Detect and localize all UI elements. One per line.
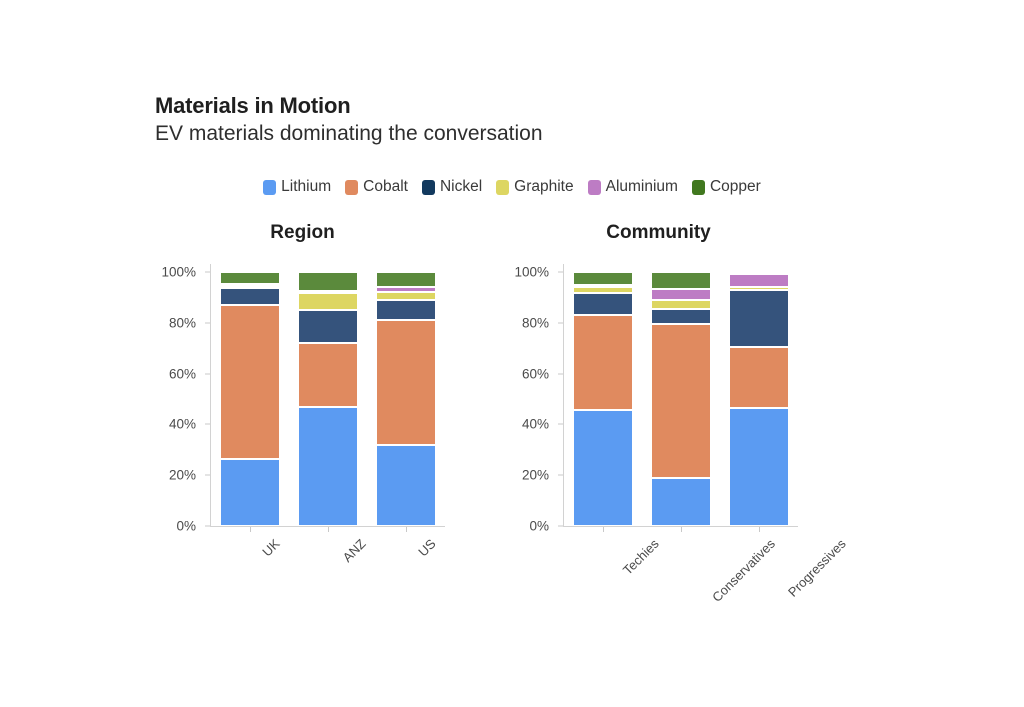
y-axis-community: 0%20%40%60%80%100%	[508, 272, 558, 526]
x-axis-tick-mark	[250, 527, 251, 532]
legend-label: Graphite	[514, 178, 573, 196]
bar-us[interactable]	[377, 272, 435, 526]
bar-uk[interactable]	[221, 272, 279, 526]
legend-item-graphite[interactable]: Graphite	[496, 178, 573, 196]
legend-label: Aluminium	[606, 178, 678, 196]
y-axis-tick-label: 20%	[169, 468, 196, 483]
y-axis-tick-label: 40%	[522, 417, 549, 432]
y-axis-tick-label: 60%	[169, 366, 196, 381]
bar-segment-nickel[interactable]	[730, 290, 788, 347]
bar-segment-cobalt[interactable]	[574, 315, 632, 410]
x-axis-tick-mark	[328, 527, 329, 532]
plot-area-community	[564, 272, 798, 526]
x-axis-tick-label: UK	[259, 536, 282, 559]
bar-segment-aluminium[interactable]	[730, 274, 788, 287]
x-axis-tick-mark	[681, 527, 682, 532]
bar-segment-lithium[interactable]	[377, 445, 435, 526]
y-axis-tick-label: 40%	[169, 417, 196, 432]
plot-area-region	[211, 272, 445, 526]
legend-label: Nickel	[440, 178, 482, 196]
legend-swatch-icon	[496, 180, 509, 195]
bar-segment-graphite[interactable]	[574, 287, 632, 294]
y-axis-region: 0%20%40%60%80%100%	[155, 272, 205, 526]
bar-segment-nickel[interactable]	[299, 310, 357, 343]
bar-progressives[interactable]	[730, 272, 788, 526]
chart-legend: LithiumCobaltNickelGraphiteAluminiumCopp…	[0, 178, 1024, 196]
y-axis-tick-label: 80%	[522, 315, 549, 330]
legend-swatch-icon	[588, 180, 601, 195]
legend-label: Copper	[710, 178, 761, 196]
legend-swatch-icon	[422, 180, 435, 195]
x-axis-tick-label: ANZ	[340, 536, 369, 565]
legend-item-copper[interactable]: Copper	[692, 178, 761, 196]
y-axis-tick-label: 0%	[529, 519, 549, 534]
legend-item-lithium[interactable]: Lithium	[263, 178, 331, 196]
bar-segment-copper[interactable]	[574, 272, 632, 285]
legend-item-aluminium[interactable]: Aluminium	[588, 178, 678, 196]
title-block: Materials in Motion EV materials dominat…	[155, 92, 543, 148]
x-axis-tick-label: Progressives	[785, 536, 849, 600]
y-axis-tick-label: 20%	[522, 468, 549, 483]
legend-label: Lithium	[281, 178, 331, 196]
legend-swatch-icon	[345, 180, 358, 195]
bar-techies[interactable]	[574, 272, 632, 526]
bar-segment-graphite[interactable]	[652, 300, 710, 309]
bar-segment-cobalt[interactable]	[299, 343, 357, 407]
bar-segment-nickel[interactable]	[377, 300, 435, 320]
x-axis-tick-label: US	[415, 536, 438, 559]
bar-segment-copper[interactable]	[299, 272, 357, 291]
bar-segment-lithium[interactable]	[221, 459, 279, 526]
page-subtitle: EV materials dominating the conversation	[155, 120, 543, 148]
y-axis-tick-label: 100%	[514, 265, 549, 280]
legend-swatch-icon	[263, 180, 276, 195]
bar-segment-lithium[interactable]	[730, 408, 788, 526]
bar-segment-cobalt[interactable]	[221, 305, 279, 459]
bar-conservatives[interactable]	[652, 272, 710, 526]
x-axis-tick-mark	[603, 527, 604, 532]
bar-segment-cobalt[interactable]	[652, 324, 710, 478]
x-axis-tick-mark	[759, 527, 760, 532]
bar-segment-cobalt[interactable]	[377, 320, 435, 444]
x-axis-tick-label: Conservatives	[709, 536, 778, 605]
panel-title-community: Community	[486, 222, 831, 244]
bar-segment-nickel[interactable]	[652, 309, 710, 324]
panel-title-region: Region	[130, 222, 475, 244]
chart-figure: Materials in Motion EV materials dominat…	[0, 0, 1024, 707]
bar-segment-cobalt[interactable]	[730, 347, 788, 408]
bar-segment-graphite[interactable]	[377, 292, 435, 300]
bar-segment-lithium[interactable]	[299, 407, 357, 526]
y-axis-tick-label: 60%	[522, 366, 549, 381]
x-axis-tick-label: Techies	[620, 536, 662, 578]
bar-segment-copper[interactable]	[221, 272, 279, 284]
bar-anz[interactable]	[299, 272, 357, 526]
bar-segment-lithium[interactable]	[652, 478, 710, 526]
legend-label: Cobalt	[363, 178, 408, 196]
y-axis-tick-label: 80%	[169, 315, 196, 330]
page-title: Materials in Motion	[155, 92, 543, 120]
bar-segment-aluminium[interactable]	[652, 289, 710, 300]
legend-item-nickel[interactable]: Nickel	[422, 178, 482, 196]
bar-segment-graphite[interactable]	[299, 293, 357, 310]
bar-segment-nickel[interactable]	[574, 293, 632, 315]
legend-swatch-icon	[692, 180, 705, 195]
x-axis-tick-mark	[406, 527, 407, 532]
legend-item-cobalt[interactable]: Cobalt	[345, 178, 408, 196]
bar-segment-lithium[interactable]	[574, 410, 632, 526]
bar-segment-copper[interactable]	[652, 272, 710, 289]
y-axis-tick-label: 100%	[161, 265, 196, 280]
y-axis-tick-label: 0%	[176, 519, 196, 534]
bar-segment-nickel[interactable]	[221, 288, 279, 306]
bar-segment-copper[interactable]	[377, 272, 435, 287]
